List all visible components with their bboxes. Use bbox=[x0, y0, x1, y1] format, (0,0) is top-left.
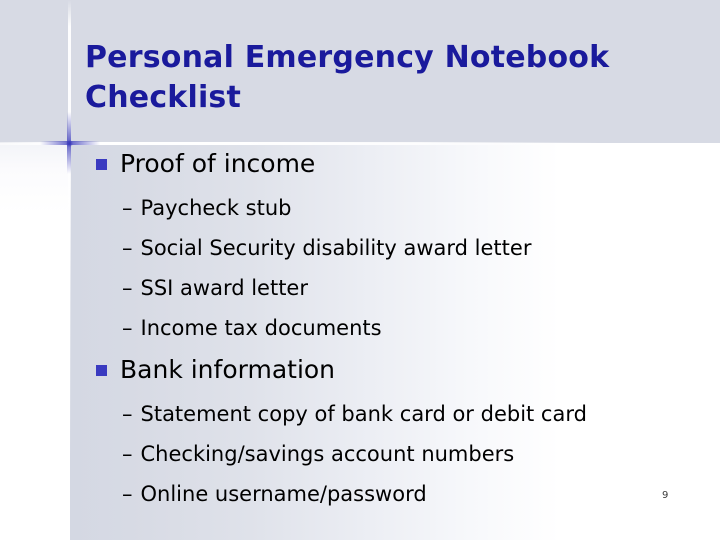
slide-title: Personal Emergency Notebook Checklist bbox=[85, 38, 685, 118]
bullet-square-icon bbox=[96, 365, 107, 376]
bullet-item-proof-of-income: Proof of income bbox=[96, 149, 315, 179]
bullet-label: Bank information bbox=[120, 355, 335, 385]
sub-item-label: Paycheck stub bbox=[141, 195, 292, 221]
slide-content: Proof of income – Paycheck stub – Social… bbox=[0, 143, 720, 540]
sub-item-label: Checking/savings account numbers bbox=[141, 441, 515, 467]
en-dash-icon: – bbox=[122, 481, 133, 507]
sub-item-label: Social Security disability award letter bbox=[141, 235, 532, 261]
sub-item-ssi-award-letter: – SSI award letter bbox=[122, 275, 308, 301]
sub-item-social-security-disability-award-letter: – Social Security disability award lette… bbox=[122, 235, 531, 261]
sub-item-online-username-password: – Online username/password bbox=[122, 481, 427, 507]
sub-item-label: SSI award letter bbox=[141, 275, 309, 301]
en-dash-icon: – bbox=[122, 441, 133, 467]
sub-item-paycheck-stub: – Paycheck stub bbox=[122, 195, 292, 221]
bullet-item-bank-information: Bank information bbox=[96, 355, 335, 385]
sub-item-label: Income tax documents bbox=[141, 315, 382, 341]
sub-item-statement-copy-of-bank-card: – Statement copy of bank card or debit c… bbox=[122, 401, 587, 427]
sub-item-label: Statement copy of bank card or debit car… bbox=[141, 401, 587, 427]
en-dash-icon: – bbox=[122, 195, 133, 221]
slide-number: 9 bbox=[662, 490, 668, 501]
bullet-square-icon bbox=[96, 159, 107, 170]
slide-canvas: Personal Emergency Notebook Checklist Pr… bbox=[0, 0, 720, 540]
en-dash-icon: – bbox=[122, 275, 133, 301]
en-dash-icon: – bbox=[122, 315, 133, 341]
en-dash-icon: – bbox=[122, 401, 133, 427]
sub-item-checking-savings-account-numbers: – Checking/savings account numbers bbox=[122, 441, 514, 467]
sub-item-label: Online username/password bbox=[141, 481, 427, 507]
bullet-label: Proof of income bbox=[120, 149, 315, 179]
en-dash-icon: – bbox=[122, 235, 133, 261]
sub-item-income-tax-documents: – Income tax documents bbox=[122, 315, 382, 341]
